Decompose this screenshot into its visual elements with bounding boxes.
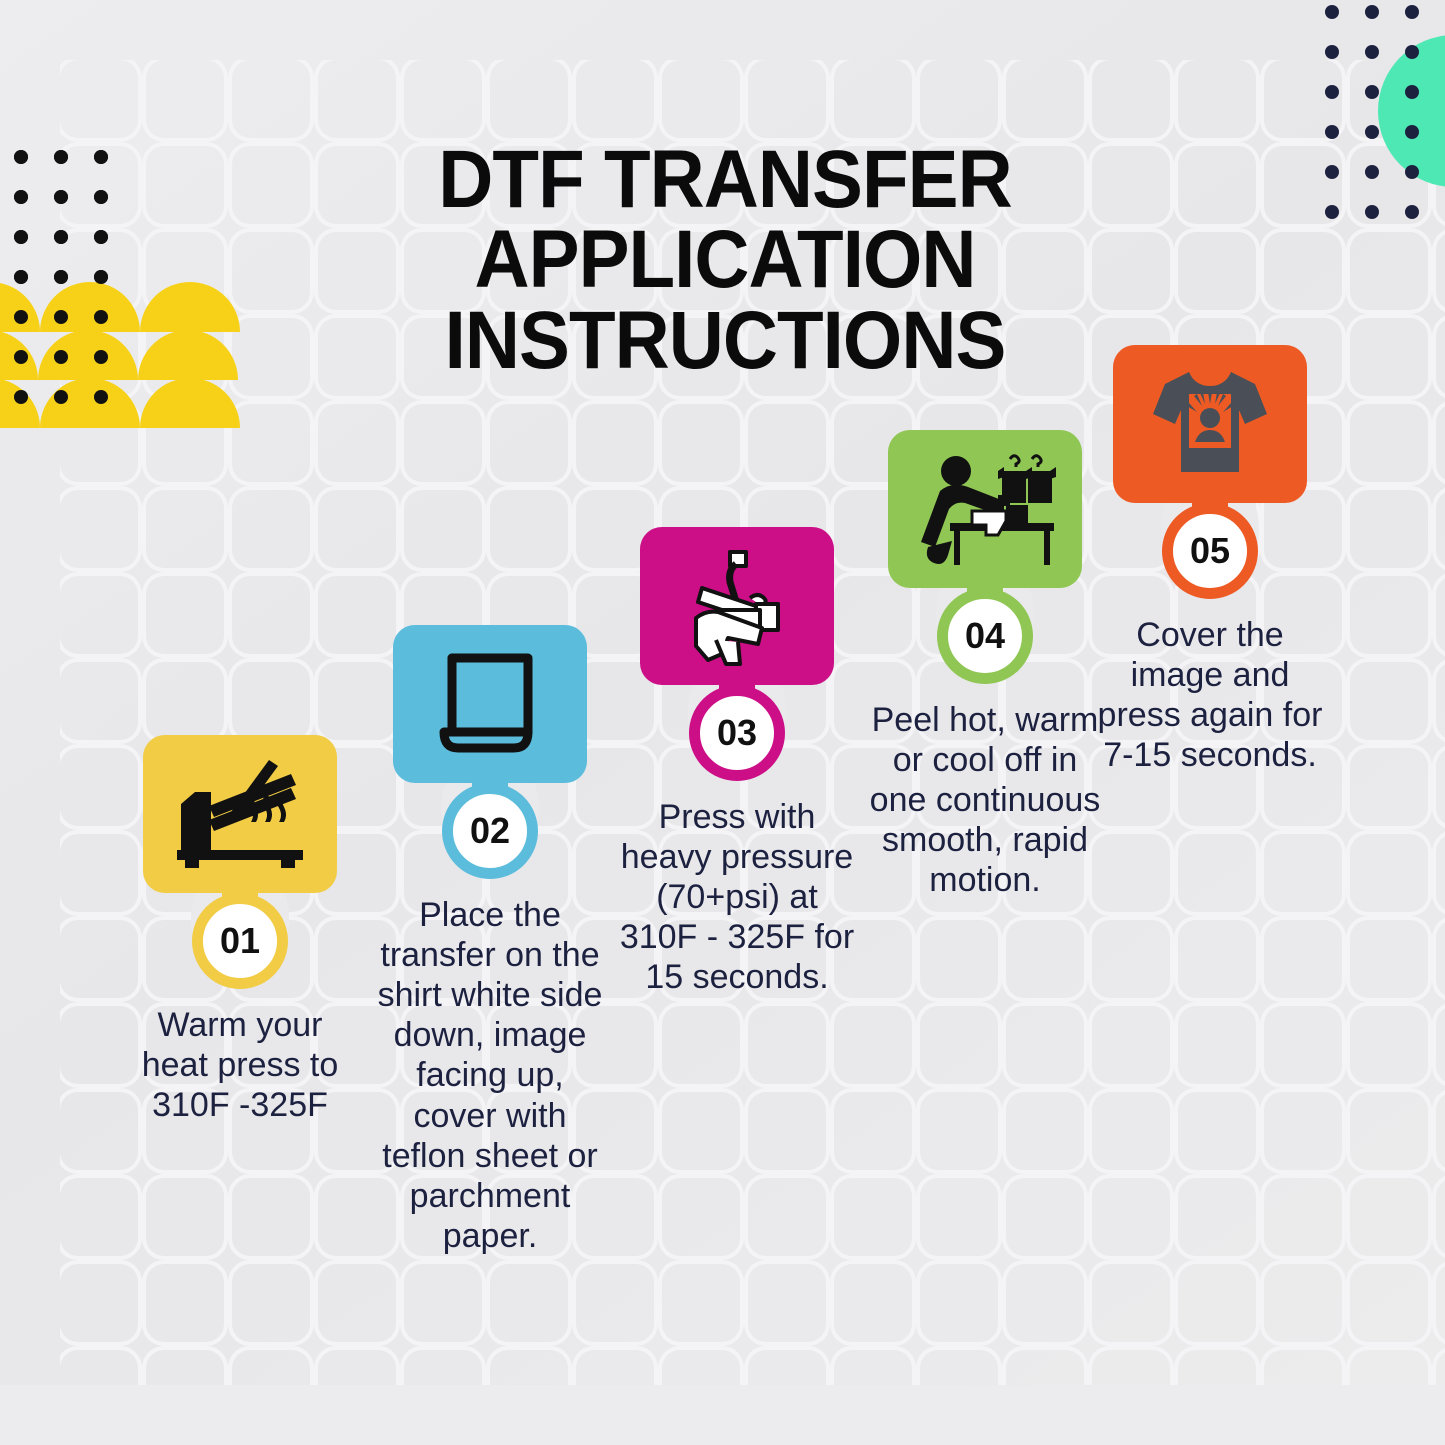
- peel-transfer-icon: [910, 447, 1060, 571]
- grid-cell: [1264, 1350, 1342, 1385]
- grid-cell: [1264, 1264, 1342, 1342]
- grid-cell: [490, 1264, 568, 1342]
- grid-cell: [1350, 232, 1428, 310]
- step-05-badge: 05: [1162, 503, 1258, 599]
- grid-cell: [1178, 1264, 1256, 1342]
- grid-cell: [1350, 1264, 1428, 1342]
- grid-cell: [1350, 834, 1428, 912]
- grid-cell: [662, 1092, 740, 1170]
- grid-cell: [1006, 1006, 1084, 1084]
- grid-cell: [1092, 1006, 1170, 1084]
- grid-cell: [404, 404, 482, 482]
- step-04-badge: 04: [937, 588, 1033, 684]
- decor-dot: [1365, 45, 1379, 59]
- step-02-text: Place the transfer on the shirt white si…: [365, 895, 615, 1256]
- grid-cell: [1264, 920, 1342, 998]
- grid-cell: [1436, 662, 1445, 740]
- step-03[interactable]: 03 Press with heavy pressure (70+psi) at…: [612, 527, 862, 998]
- grid-cell: [1436, 1092, 1445, 1170]
- grid-cell: [1178, 60, 1256, 138]
- decor-dot: [1365, 125, 1379, 139]
- step-01-badge: 01: [192, 893, 288, 989]
- decor-dot: [94, 190, 108, 204]
- decor-dot: [1405, 125, 1419, 139]
- step-05-pin: 05: [1085, 345, 1335, 599]
- grid-cell: [1178, 920, 1256, 998]
- grid-cell: [1436, 232, 1445, 310]
- step-02-number: 02: [470, 810, 510, 852]
- step-05-number: 05: [1190, 530, 1230, 572]
- decor-dot: [14, 310, 28, 324]
- grid-cell: [318, 60, 396, 138]
- grid-cell: [662, 404, 740, 482]
- grid-cell: [834, 1264, 912, 1342]
- grid-cell: [1350, 576, 1428, 654]
- grid-cell: [1006, 920, 1084, 998]
- grid-cell: [834, 60, 912, 138]
- grid-cell: [232, 576, 310, 654]
- grid-cell: [490, 490, 568, 568]
- grid-cell: [146, 662, 224, 740]
- decor-dot: [14, 350, 28, 364]
- step-04-text: Peel hot, warm or cool off in one contin…: [860, 700, 1110, 901]
- decor-dot: [1405, 5, 1419, 19]
- grid-cell: [748, 1092, 826, 1170]
- grid-cell: [1436, 490, 1445, 568]
- grid-cell: [920, 1006, 998, 1084]
- grid-cell: [1436, 834, 1445, 912]
- decor-dot: [94, 350, 108, 364]
- grid-cell: [1092, 920, 1170, 998]
- grid-cell: [920, 1092, 998, 1170]
- grid-cell: [1350, 920, 1428, 998]
- step-03-text: Press with heavy pressure (70+psi) at 31…: [612, 797, 862, 998]
- grid-cell: [834, 1178, 912, 1256]
- grid-cell: [60, 1350, 138, 1385]
- grid-cell: [60, 1264, 138, 1342]
- grid-cell: [1350, 748, 1428, 826]
- step-04-card[interactable]: [888, 430, 1082, 588]
- grid-cell: [60, 662, 138, 740]
- heat-press-machine-icon: [662, 544, 812, 668]
- grid-cell: [1006, 60, 1084, 138]
- grid-cell: [404, 1264, 482, 1342]
- grid-cell: [662, 1006, 740, 1084]
- step-03-badge: 03: [689, 685, 785, 781]
- grid-cell: [1436, 318, 1445, 396]
- grid-cell: [1006, 1178, 1084, 1256]
- grid-cell: [232, 60, 310, 138]
- grid-cell: [60, 576, 138, 654]
- grid-cell: [1264, 1092, 1342, 1170]
- grid-cell: [1264, 834, 1342, 912]
- grid-cell: [662, 1178, 740, 1256]
- grid-cell: [1092, 1178, 1170, 1256]
- grid-cell: [404, 490, 482, 568]
- step-03-card[interactable]: [640, 527, 834, 685]
- decor-dot: [14, 230, 28, 244]
- grid-cell: [232, 662, 310, 740]
- decor-dot: [94, 390, 108, 404]
- grid-cell: [1436, 1178, 1445, 1256]
- grid-cell: [748, 1264, 826, 1342]
- decor-dot: [14, 270, 28, 284]
- grid-cell: [318, 1350, 396, 1385]
- grid-cell: [1006, 1264, 1084, 1342]
- grid-cell: [146, 1264, 224, 1342]
- decor-dot: [54, 190, 68, 204]
- step-02-badge: 02: [442, 783, 538, 879]
- grid-cell: [1350, 1092, 1428, 1170]
- grid-cell: [1350, 1350, 1428, 1385]
- grid-cell: [1178, 1350, 1256, 1385]
- step-01-text: Warm your heat press to 310F -325F: [115, 1005, 365, 1125]
- grid-cell: [146, 1350, 224, 1385]
- decor-dot: [54, 150, 68, 164]
- grid-cell: [1178, 834, 1256, 912]
- background-bottom-band: [0, 1385, 1445, 1445]
- step-03-pin: 03: [612, 527, 862, 781]
- step-04[interactable]: 04 Peel hot, warm or cool off in one con…: [860, 430, 1110, 901]
- decor-dot: [94, 230, 108, 244]
- grid-cell: [748, 1350, 826, 1385]
- decor-dot: [14, 190, 28, 204]
- transfer-sheet-icon: [415, 642, 565, 766]
- grid-cell: [748, 1006, 826, 1084]
- grid-cell: [1178, 1092, 1256, 1170]
- grid-cell: [576, 60, 654, 138]
- grid-cell: [1436, 748, 1445, 826]
- decor-dot: [1365, 85, 1379, 99]
- decor-dot: [54, 230, 68, 244]
- grid-cell: [1436, 920, 1445, 998]
- grid-cell: [1350, 1178, 1428, 1256]
- decor-dot: [1365, 205, 1379, 219]
- grid-cell: [576, 1264, 654, 1342]
- step-04-number: 04: [965, 615, 1005, 657]
- title-line-1: DTF TRANSFER APPLICATION: [438, 134, 1011, 305]
- grid-cell: [318, 490, 396, 568]
- step-02-card[interactable]: [393, 625, 587, 783]
- step-03-number: 03: [717, 712, 757, 754]
- grid-cell: [404, 60, 482, 138]
- grid-cell: [576, 404, 654, 482]
- grid-cell: [490, 404, 568, 482]
- printed-tshirt-icon: [1135, 362, 1285, 486]
- grid-cell: [576, 1350, 654, 1385]
- grid-cell: [1436, 1264, 1445, 1342]
- step-05-card[interactable]: [1113, 345, 1307, 503]
- step-01-number: 01: [220, 920, 260, 962]
- step-01-card[interactable]: [143, 735, 337, 893]
- grid-cell: [1092, 60, 1170, 138]
- heat-press-icon: [165, 752, 315, 876]
- decor-dot: [1405, 85, 1419, 99]
- grid-cell: [1006, 1350, 1084, 1385]
- grid-cell: [318, 404, 396, 482]
- grid-cell: [920, 920, 998, 998]
- grid-cell: [662, 60, 740, 138]
- grid-cell: [1350, 318, 1428, 396]
- grid-cell: [1264, 1006, 1342, 1084]
- grid-cell: [490, 1350, 568, 1385]
- grid-cell: [662, 1264, 740, 1342]
- grid-cell: [1178, 1178, 1256, 1256]
- grid-cell: [920, 1178, 998, 1256]
- decor-dot: [14, 390, 28, 404]
- grid-cell: [1436, 1350, 1445, 1385]
- decor-dot: [54, 270, 68, 284]
- decor-dot: [1365, 5, 1379, 19]
- grid-cell: [60, 60, 138, 138]
- grid-cell: [1092, 1264, 1170, 1342]
- decor-dot: [54, 310, 68, 324]
- grid-cell: [232, 404, 310, 482]
- decor-dot: [14, 150, 28, 164]
- grid-cell: [232, 1350, 310, 1385]
- decor-dot: [54, 390, 68, 404]
- grid-cell: [146, 1178, 224, 1256]
- grid-cell: [920, 1350, 998, 1385]
- grid-cell: [490, 60, 568, 138]
- grid-cell: [1264, 232, 1342, 310]
- decor-dot: [94, 310, 108, 324]
- decor-dot: [1325, 85, 1339, 99]
- grid-cell: [146, 490, 224, 568]
- grid-cell: [748, 60, 826, 138]
- grid-cell: [834, 1006, 912, 1084]
- step-05[interactable]: 05 Cover the image and press again for 7…: [1085, 345, 1335, 775]
- decor-dot: [1325, 165, 1339, 179]
- decor-dot: [1405, 165, 1419, 179]
- step-05-text: Cover the image and press again for 7-15…: [1085, 615, 1335, 775]
- decor-dot: [1325, 45, 1339, 59]
- step-02-pin: 02: [365, 625, 615, 879]
- decor-dot: [1405, 205, 1419, 219]
- grid-cell: [920, 1264, 998, 1342]
- grid-cell: [834, 1350, 912, 1385]
- decor-dot: [94, 150, 108, 164]
- grid-cell: [1436, 404, 1445, 482]
- step-01[interactable]: 01 Warm your heat press to 310F -325F: [115, 735, 365, 1125]
- grid-cell: [232, 490, 310, 568]
- grid-cell: [232, 1264, 310, 1342]
- grid-cell: [60, 490, 138, 568]
- grid-cell: [318, 1264, 396, 1342]
- decor-dot: [54, 350, 68, 364]
- grid-cell: [1350, 1006, 1428, 1084]
- grid-cell: [404, 1350, 482, 1385]
- grid-cell: [748, 1178, 826, 1256]
- decor-dot: [1405, 45, 1419, 59]
- grid-cell: [1006, 1092, 1084, 1170]
- decor-dot: [1325, 205, 1339, 219]
- grid-cell: [1350, 404, 1428, 482]
- grid-cell: [1264, 1178, 1342, 1256]
- decor-dot: [1365, 165, 1379, 179]
- grid-cell: [662, 1350, 740, 1385]
- grid-cell: [748, 404, 826, 482]
- grid-cell: [1092, 1350, 1170, 1385]
- decor-dot: [1325, 125, 1339, 139]
- grid-cell: [232, 1178, 310, 1256]
- grid-cell: [1350, 490, 1428, 568]
- grid-cell: [920, 60, 998, 138]
- grid-cell: [1092, 1092, 1170, 1170]
- step-02[interactable]: 02 Place the transfer on the shirt white…: [365, 625, 615, 1256]
- grid-cell: [1350, 662, 1428, 740]
- grid-cell: [60, 1178, 138, 1256]
- grid-cell: [146, 576, 224, 654]
- grid-cell: [1436, 1006, 1445, 1084]
- decor-dot: [1325, 5, 1339, 19]
- decor-dot: [94, 270, 108, 284]
- grid-cell: [146, 60, 224, 138]
- grid-cell: [1436, 576, 1445, 654]
- grid-cell: [834, 1092, 912, 1170]
- grid-cell: [1178, 1006, 1256, 1084]
- infographic-canvas: DTF TRANSFER APPLICATION INSTRUCTIONS: [0, 0, 1445, 1445]
- step-04-pin: 04: [860, 430, 1110, 684]
- step-01-pin: 01: [115, 735, 365, 989]
